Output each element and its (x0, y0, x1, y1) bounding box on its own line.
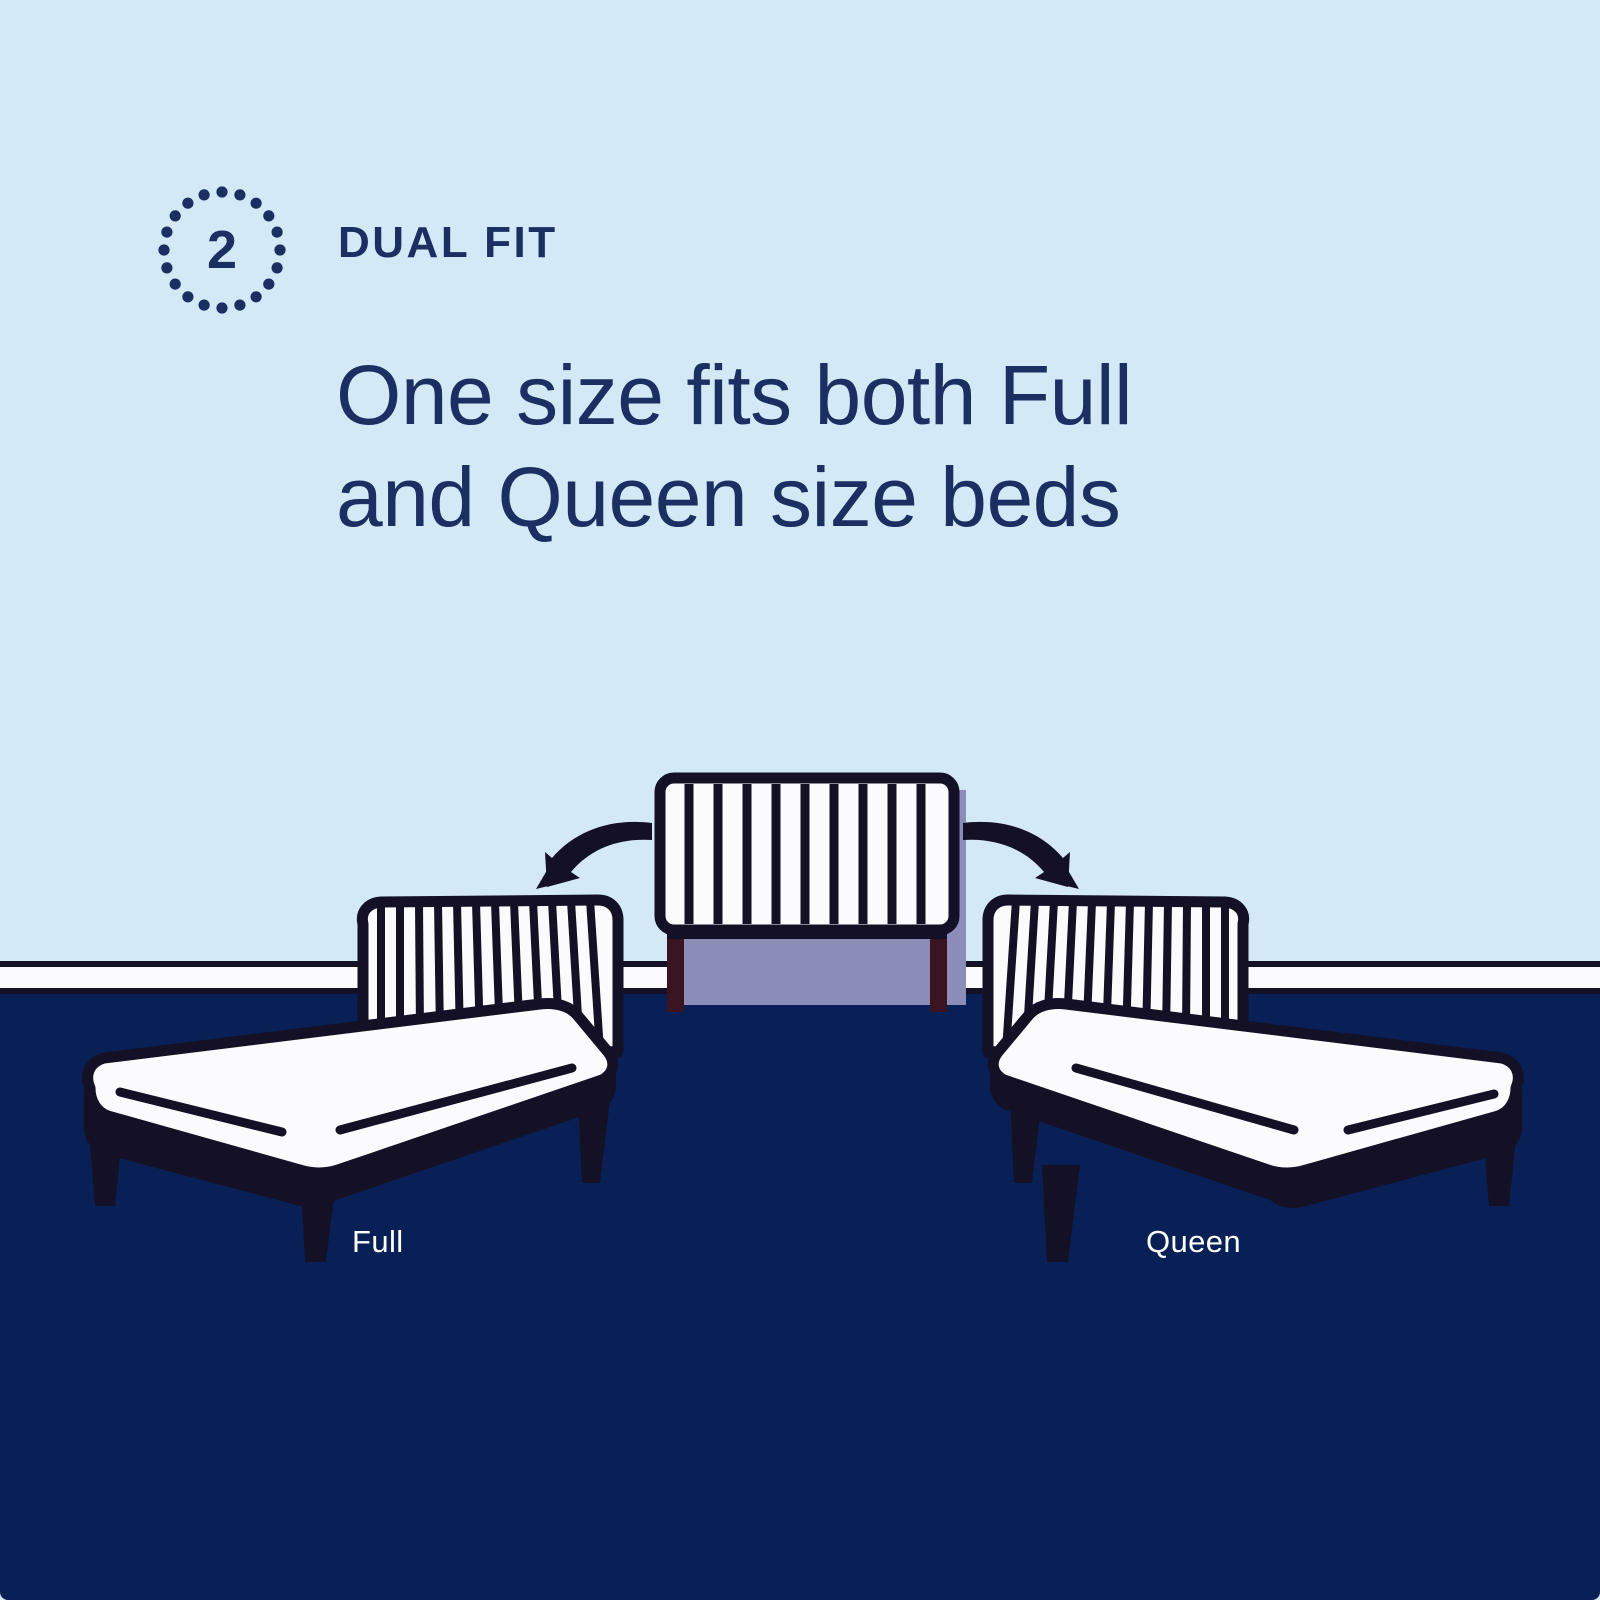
step-number: 2 (158, 186, 286, 314)
caption-queen: Queen (1146, 1224, 1241, 1260)
headboard-leg-right (930, 930, 947, 1012)
headboard-leg-left (667, 930, 684, 1012)
headline-line-1: One size fits both Full (336, 344, 1346, 446)
step-badge: 2 (158, 186, 286, 314)
caption-full: Full (352, 1224, 404, 1260)
illustration-canvas: 2 DUAL FIT One size fits both Full and Q… (0, 0, 1600, 1600)
feature-eyebrow: DUAL FIT (338, 218, 558, 268)
headline-line-2: and Queen size beds (336, 446, 1346, 548)
page-title: One size fits both Full and Queen size b… (336, 344, 1346, 549)
standalone-headboard (660, 778, 966, 1012)
